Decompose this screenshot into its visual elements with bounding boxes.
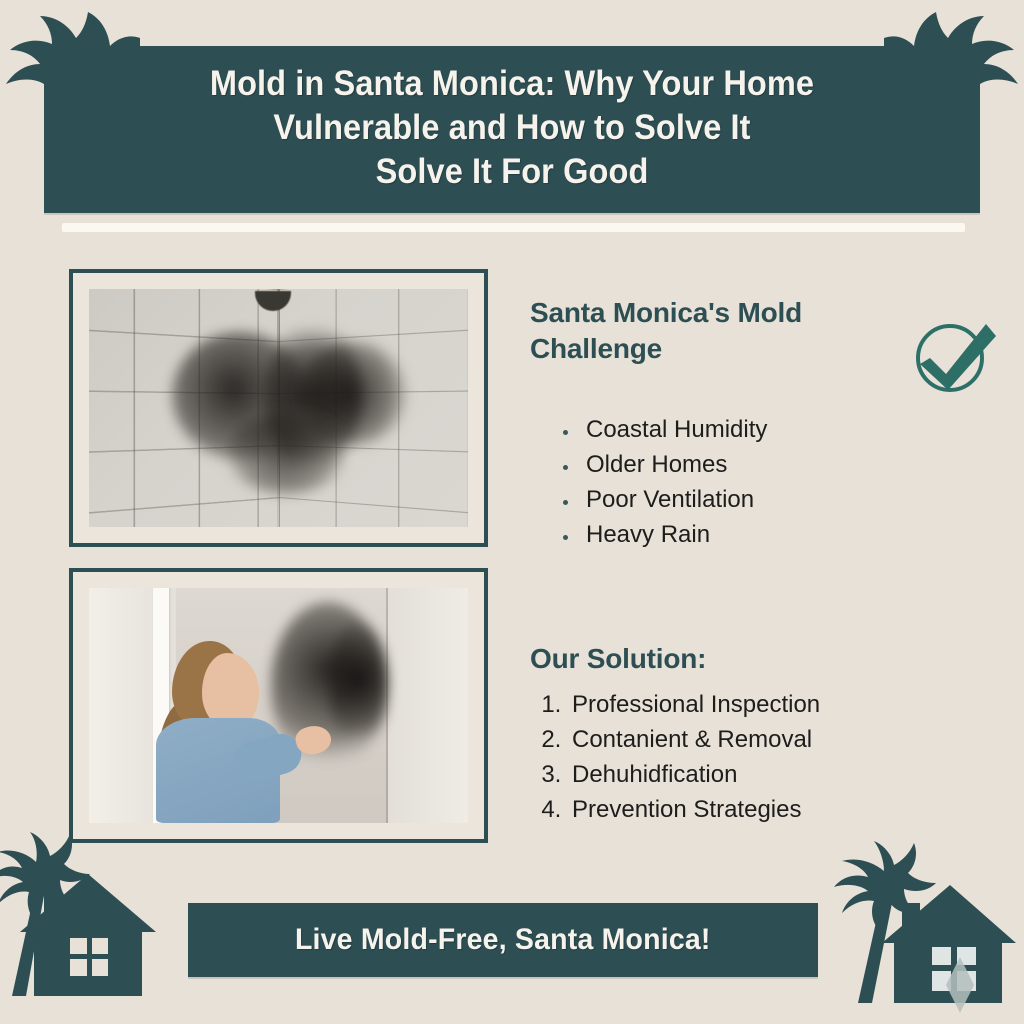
photo-woman-inspecting-mold: [89, 588, 468, 823]
page-title: Mold in Santa Monica: Why Your Home Vuln…: [77, 62, 947, 194]
list-item: Coastal Humidity: [580, 412, 767, 447]
list-item: Older Homes: [580, 447, 767, 482]
person-inspecting: [150, 621, 309, 823]
solution-list: Professional Inspection Contanient & Rem…: [530, 687, 820, 827]
list-item: Contanient & Removal: [568, 722, 820, 757]
list-item: Prevention Strategies: [568, 792, 820, 827]
palm-tree-and-house-bottom-left-icon: [0, 826, 181, 1016]
wall-right: [388, 588, 468, 823]
list-item: Poor Ventilation: [580, 482, 767, 517]
infographic-canvas: Mold in Santa Monica: Why Your Home Vuln…: [0, 0, 1024, 1024]
photo-frame-mold-inspection: [69, 568, 488, 843]
list-item: Heavy Rain: [580, 517, 767, 552]
solution-heading: Our Solution:: [530, 641, 870, 677]
list-item: Dehuhidfication: [568, 757, 820, 792]
room-interior: [89, 588, 468, 823]
list-item: Professional Inspection: [568, 687, 820, 722]
wall-corner-edge: [386, 588, 388, 823]
challenge-heading: Santa Monica's Mold Challenge: [530, 295, 860, 367]
challenge-list: Coastal Humidity Older Homes Poor Ventil…: [552, 412, 767, 552]
page-title-line-1: Mold in Santa Monica: Why Your Home: [77, 62, 947, 106]
photo-frame-mold-tiles: [69, 269, 488, 547]
page-title-line-3: Solve It For Good: [77, 150, 947, 194]
palm-tree-and-house-bottom-right-icon: [828, 825, 1018, 1020]
check-circle-icon: [908, 308, 1000, 400]
footer-banner: Live Mold-Free, Santa Monica!: [188, 903, 818, 977]
photo-mold-tiles: [89, 289, 468, 527]
footer-cta-text: Live Mold-Free, Santa Monica!: [295, 923, 711, 957]
header-banner: Mold in Santa Monica: Why Your Home Vuln…: [44, 46, 980, 213]
mold-patch: [328, 621, 389, 748]
page-title-line-2: Vulnerable and How to Solve It: [77, 106, 947, 150]
header-divider-rule: [62, 223, 965, 232]
mold-patch: [225, 413, 346, 494]
